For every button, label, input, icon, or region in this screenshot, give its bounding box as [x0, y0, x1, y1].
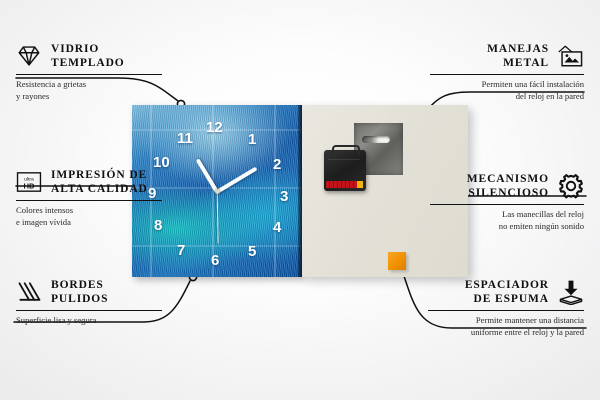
feature-title-line1: MECANISMO	[467, 173, 549, 185]
clock-numeral-2: 2	[273, 157, 281, 172]
clock-numeral-5: 5	[248, 244, 256, 259]
feature-desc-line2: y rayones	[16, 91, 49, 101]
clock-numeral-7: 7	[177, 243, 185, 258]
feature-manejas-metal[interactable]: MANEJAS METAL Permiten una fácil instala…	[430, 42, 584, 102]
foam-spacer-part	[388, 252, 406, 270]
feature-title: MECANISMO SILENCIOSO	[467, 172, 549, 200]
mechanism-handle	[332, 145, 360, 155]
feature-title: IMPRESIÓN DE ALTA CALIDAD	[51, 168, 148, 196]
feature-title-line1: BORDES	[51, 279, 104, 291]
feature-desc-line2: e imagen vívida	[16, 217, 71, 227]
feature-desc-line2: no emiten ningún sonido	[499, 221, 584, 231]
feature-desc: Superficie lisa y segura	[16, 315, 162, 327]
clock-center-cap	[215, 189, 220, 194]
svg-text:HD: HD	[23, 182, 35, 191]
mechanism-yellow-tab	[357, 181, 363, 188]
feature-header: VIDRIO TEMPLADO	[16, 42, 162, 70]
feature-desc: Resistencia a grietas y rayones	[16, 79, 162, 102]
foam-spacer-icon	[558, 279, 584, 305]
clock-numeral-12: 12	[206, 120, 223, 135]
feature-title-line2: METAL	[503, 57, 549, 69]
feature-title: VIDRIO TEMPLADO	[51, 42, 125, 70]
feature-rule	[430, 204, 584, 205]
feature-title-line2: DE ESPUMA	[473, 293, 549, 305]
feature-header: ultra HD IMPRESIÓN DE ALTA CALIDAD	[16, 168, 162, 196]
feature-title: ESPACIADOR DE ESPUMA	[465, 278, 549, 306]
diamond-icon	[16, 43, 42, 69]
feature-desc: Las manecillas del reloj no emiten ningú…	[430, 209, 584, 232]
feature-desc-line1: Las manecillas del reloj	[502, 209, 584, 219]
feature-rule	[16, 74, 162, 75]
feature-mecanismo-silencioso[interactable]: MECANISMO SILENCIOSO Las manecillas del …	[430, 172, 584, 232]
hanger-slot	[362, 136, 390, 143]
clock-numeral-1: 1	[248, 132, 256, 147]
clock-numeral-6: 6	[211, 253, 219, 268]
feature-impresion-alta-calidad[interactable]: ultra HD IMPRESIÓN DE ALTA CALIDAD Color…	[16, 168, 162, 228]
clock-hour-hand	[196, 158, 219, 193]
ultra-hd-icon: ultra HD	[16, 169, 42, 195]
feature-title-line1: IMPRESIÓN DE	[51, 169, 147, 181]
feature-vidrio-templado[interactable]: VIDRIO TEMPLADO Resistencia a grietas y …	[16, 42, 162, 102]
feature-desc: Colores intensos e imagen vívida	[16, 205, 162, 228]
quartz-mechanism-part	[324, 150, 366, 191]
clock-second-hand	[216, 192, 218, 244]
feature-title-line2: TEMPLADO	[51, 57, 125, 69]
clock-numeral-11: 11	[177, 131, 193, 146]
feature-desc-line1: Colores intensos	[16, 205, 73, 215]
feature-espaciador-espuma[interactable]: ESPACIADOR DE ESPUMA Permite mantener un…	[428, 278, 584, 338]
feature-rule	[16, 200, 162, 201]
feature-title-line1: ESPACIADOR	[465, 279, 549, 291]
feature-desc: Permiten una fácil instalación del reloj…	[430, 79, 584, 102]
feature-desc-line1: Permite mantener una distancia	[476, 315, 584, 325]
gear-icon	[558, 173, 584, 199]
feature-desc-line1: Resistencia a grietas	[16, 79, 86, 89]
feature-desc: Permite mantener una distancia uniforme …	[428, 315, 584, 338]
feature-header: MANEJAS METAL	[430, 42, 584, 70]
clock-numeral-3: 3	[280, 189, 288, 204]
clock-minute-hand	[216, 167, 257, 194]
feature-header: ESPACIADOR DE ESPUMA	[428, 278, 584, 306]
infographic-stage: 12 1 2 3 4 5 6 7 8 9 10 11	[0, 0, 600, 400]
feature-rule	[430, 74, 584, 75]
feature-title: MANEJAS METAL	[487, 42, 549, 70]
mechanism-seam	[328, 159, 360, 160]
feature-header: MECANISMO SILENCIOSO	[430, 172, 584, 200]
feature-desc-line2: uniforme entre el reloj y la pared	[471, 327, 584, 337]
feature-title-line1: MANEJAS	[487, 43, 549, 55]
feature-title-line2: PULIDOS	[51, 293, 108, 305]
feature-rule	[16, 310, 162, 311]
feature-title-line2: ALTA CALIDAD	[51, 183, 148, 195]
clock-numeral-4: 4	[273, 220, 281, 235]
picture-frame-icon	[558, 43, 584, 69]
polished-edges-icon	[16, 279, 42, 305]
feature-title: BORDES PULIDOS	[51, 278, 108, 306]
feature-desc-line1: Permiten una fácil instalación	[482, 79, 584, 89]
feature-header: BORDES PULIDOS	[16, 278, 162, 306]
feature-desc-line1: Superficie lisa y segura	[16, 315, 96, 325]
feature-bordes-pulidos[interactable]: BORDES PULIDOS Superficie lisa y segura	[16, 278, 162, 327]
feature-rule	[428, 310, 584, 311]
feature-desc-line2: del reloj en la pared	[516, 91, 584, 101]
feature-title-line1: VIDRIO	[51, 43, 99, 55]
feature-title-line2: SILENCIOSO	[468, 187, 549, 199]
